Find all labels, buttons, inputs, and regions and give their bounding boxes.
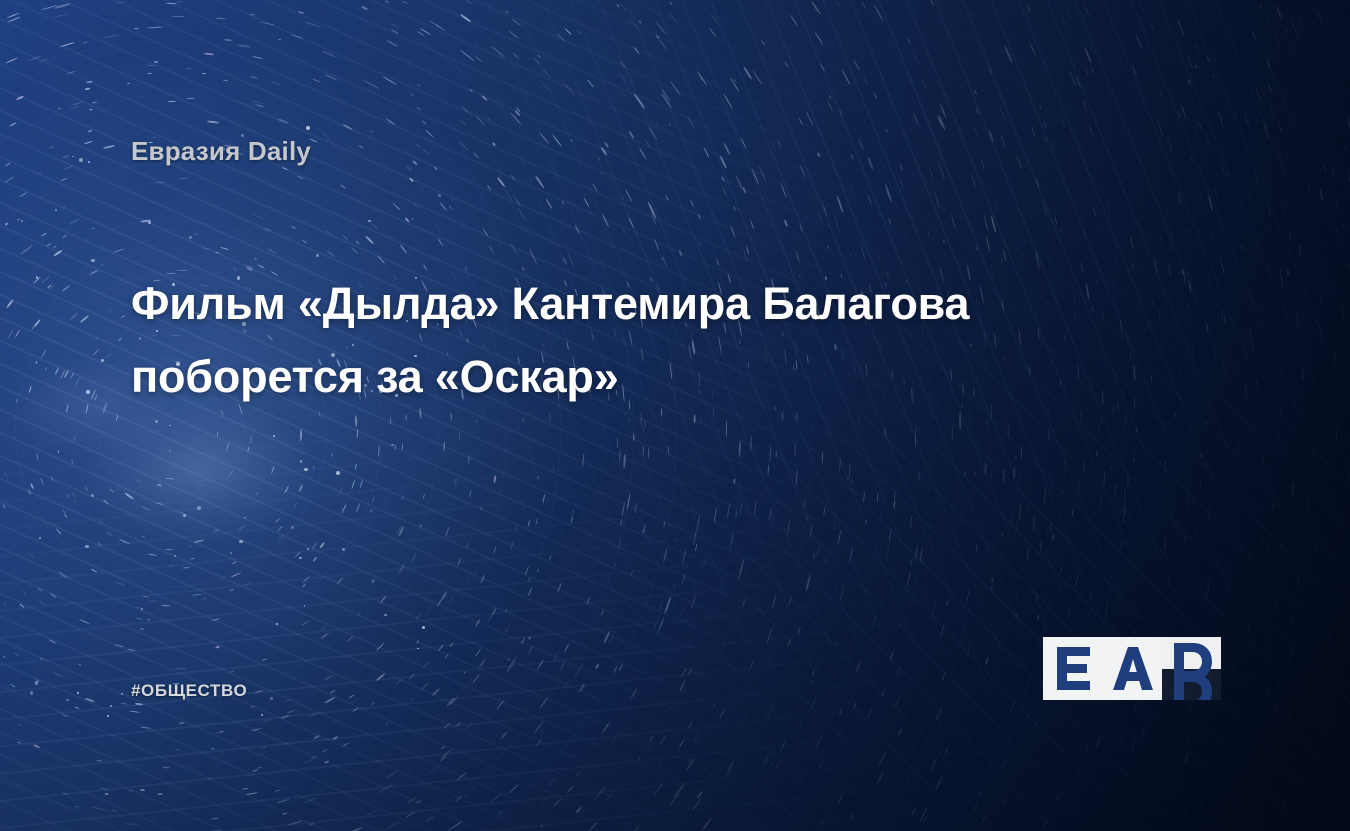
logo-letter-a-icon xyxy=(1102,637,1162,700)
logo-tile-a xyxy=(1102,637,1162,700)
logo-tile-e xyxy=(1043,637,1103,700)
logo-letter-d-icon xyxy=(1161,637,1221,700)
logo-tile-d xyxy=(1161,637,1221,700)
headline-line-1: Фильм «Дылда» Кантемира Балагова xyxy=(131,268,1191,341)
site-name: Евразия Daily xyxy=(131,136,311,167)
eadaily-logo[interactable] xyxy=(1043,637,1221,700)
news-social-card: Евразия Daily Фильм «Дылда» Кантемира Ба… xyxy=(0,0,1350,831)
logo-letter-e-icon xyxy=(1043,637,1103,700)
headline: Фильм «Дылда» Кантемира Балагова поборет… xyxy=(131,268,1191,414)
card-content: Евразия Daily Фильм «Дылда» Кантемира Ба… xyxy=(0,0,1350,831)
category-hashtag[interactable]: #ОБЩЕСТВО xyxy=(131,681,247,701)
headline-line-2: поборется за «Оскар» xyxy=(131,341,1191,414)
